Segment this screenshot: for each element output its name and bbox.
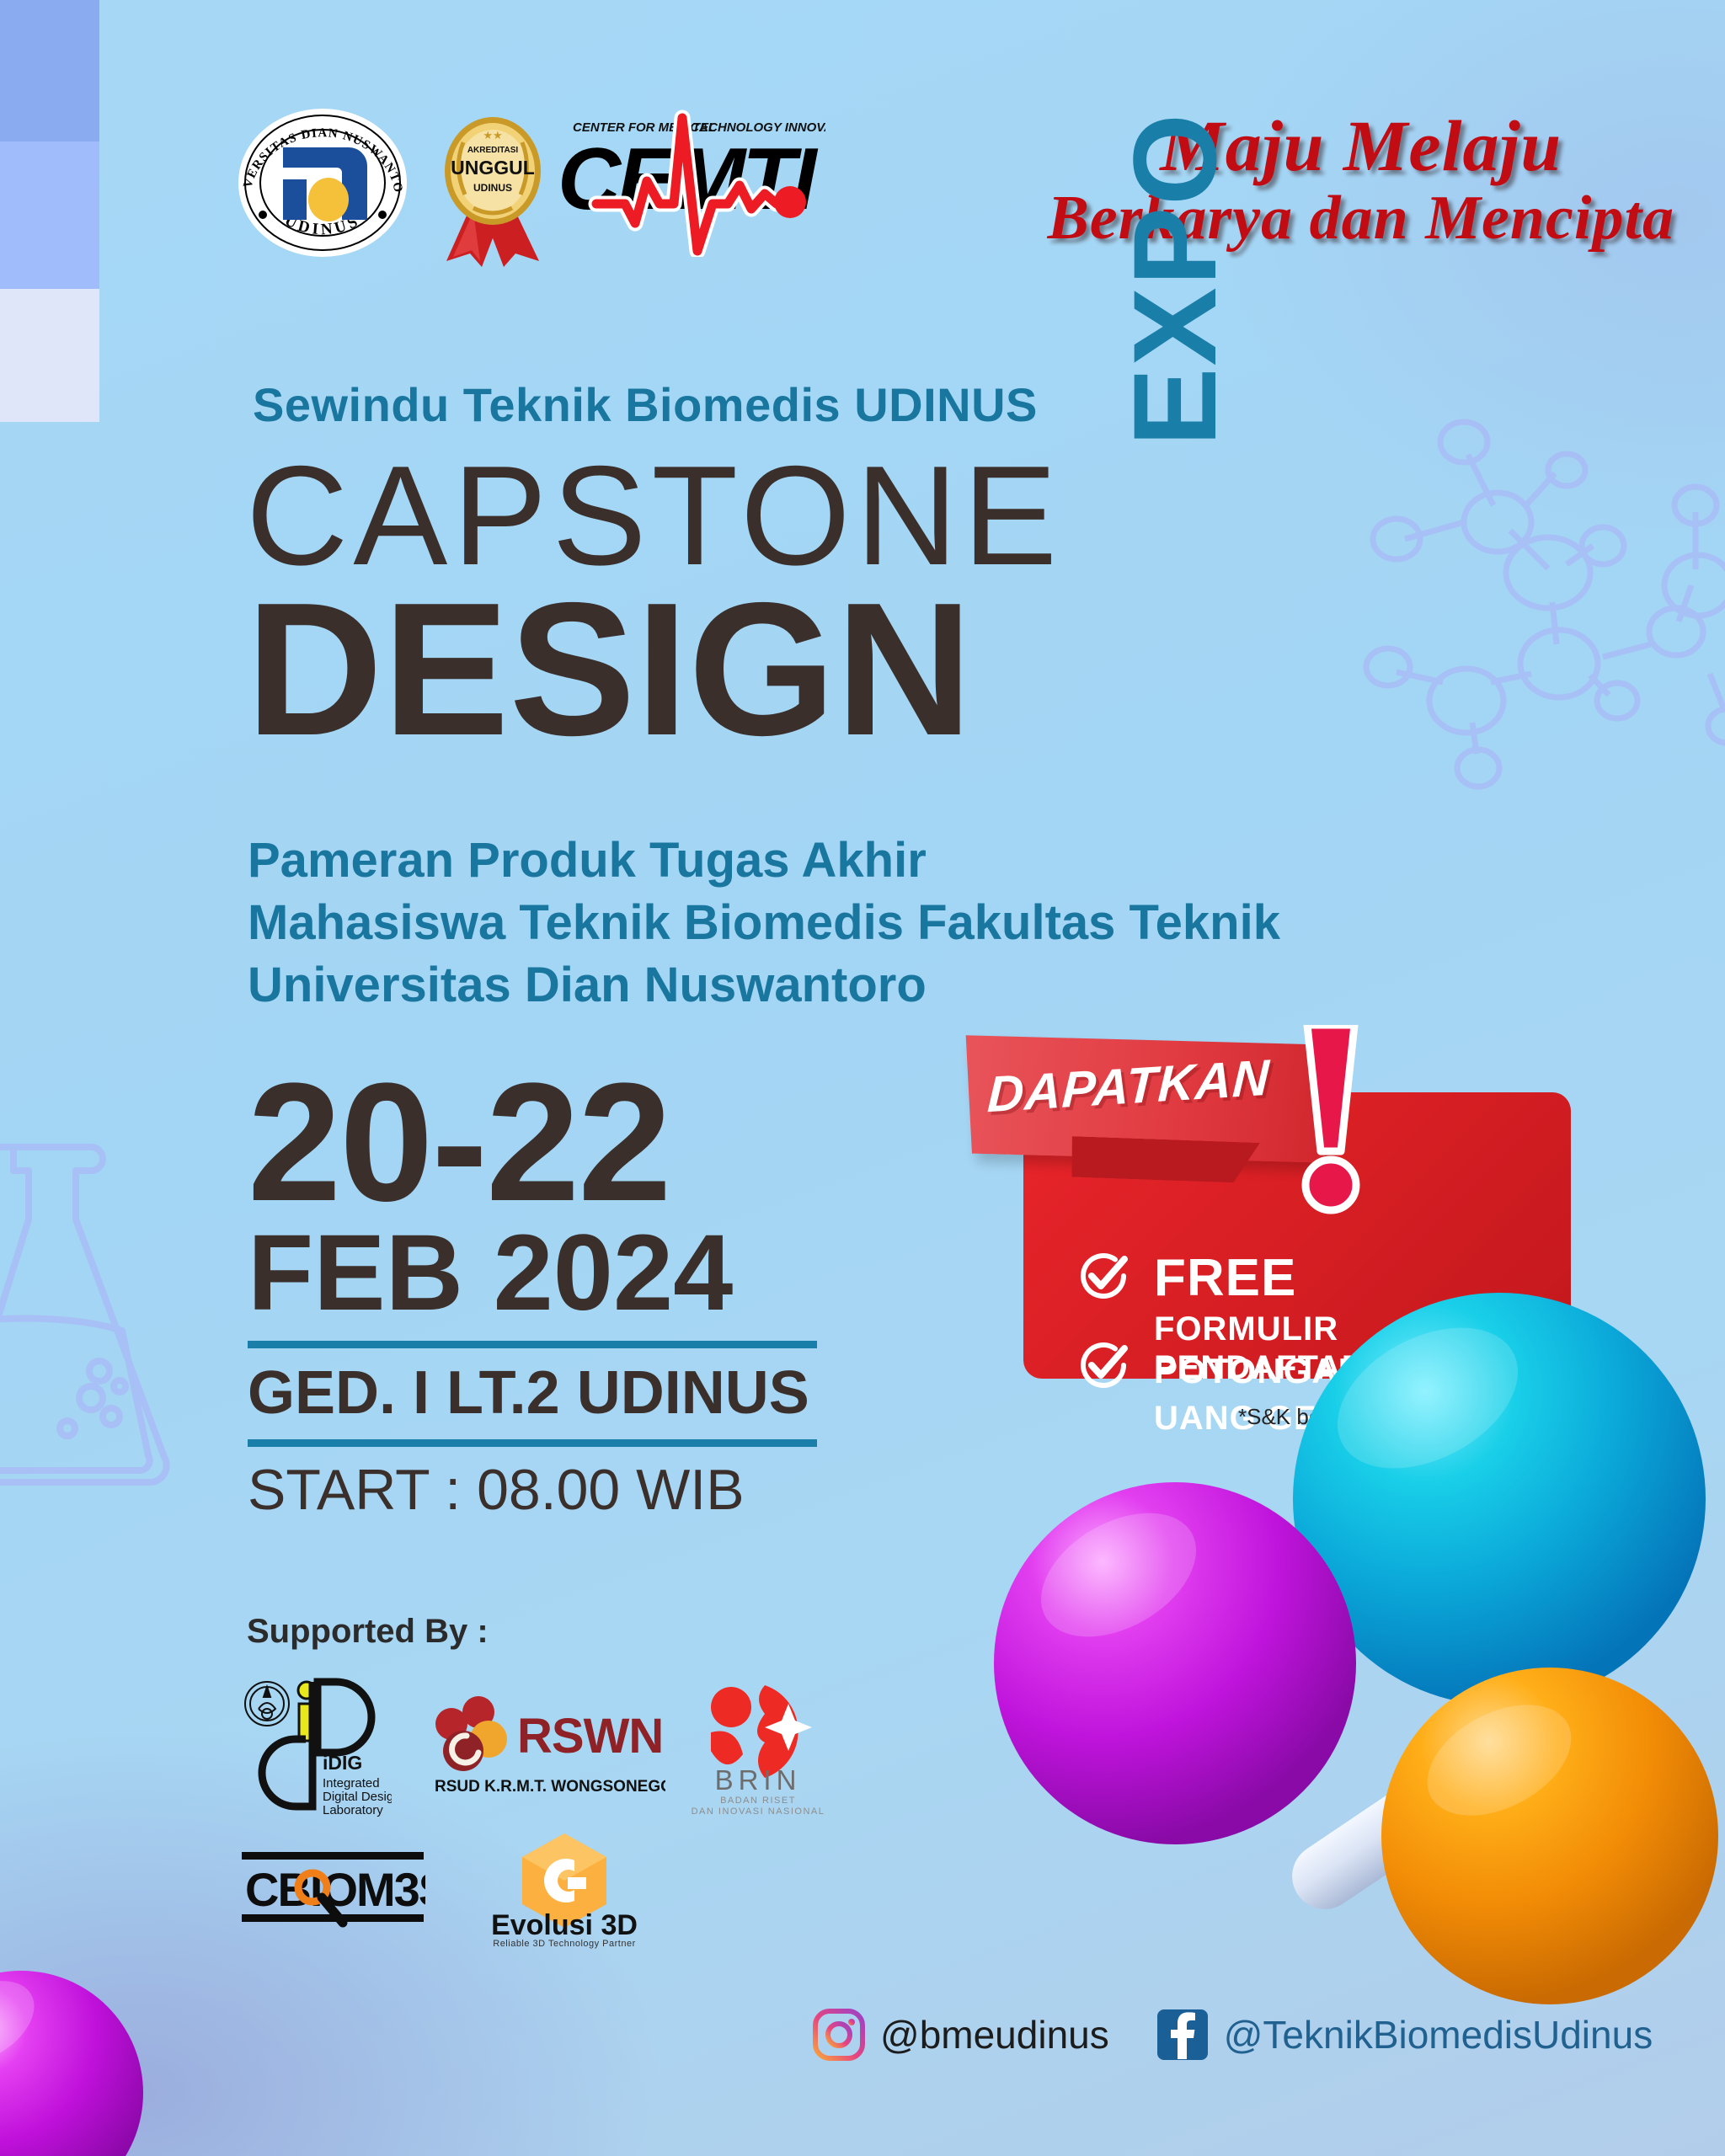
idig-lab-logo-icon: iDIG Integrated Digital Design Laborator… bbox=[240, 1672, 392, 1819]
event-start-time: START : 08.00 WIB bbox=[248, 1457, 837, 1523]
brin-logo-icon: BRIN BADAN RISET DAN INOVASI NASIONAL bbox=[691, 1680, 825, 1815]
divider-rule-1 bbox=[248, 1341, 817, 1348]
evolusi-3d-logo-icon: Evolusi 3D Reliable 3D Technology Partne… bbox=[480, 1832, 649, 1950]
corner-square-3 bbox=[0, 289, 99, 422]
brin-wordmark: BRIN bbox=[715, 1764, 802, 1796]
rswn-wordmark: RSWN bbox=[517, 1709, 663, 1764]
badge-line3: UDINUS bbox=[473, 182, 512, 194]
event-title-block: CAPSTONE DESIGN bbox=[246, 446, 1257, 800]
instagram-handle: @bmeudinus bbox=[880, 2012, 1109, 2057]
idig-line-2: Integrated bbox=[323, 1776, 380, 1790]
divider-rule-2 bbox=[248, 1439, 817, 1447]
subtitle-line-3: Universitas Dian Nuswantoro bbox=[248, 954, 1280, 1017]
supported-by-label: Supported By : bbox=[247, 1613, 489, 1651]
event-month-year: FEB 2024 bbox=[248, 1219, 837, 1329]
social-facebook[interactable]: @TeknikBiomedisUdinus bbox=[1156, 2009, 1653, 2061]
idig-line-4: Laboratory bbox=[323, 1803, 383, 1817]
social-links: @bmeudinus @TeknikBiomedisUdinus bbox=[813, 2009, 1653, 2061]
event-subtitle: Pameran Produk Tugas Akhir Mahasiswa Tek… bbox=[248, 830, 1280, 1017]
poster-canvas: UNIVERSITAS DIAN NUSWANTORO UDINUS AKRED… bbox=[0, 0, 1725, 2156]
badge-line1: AKREDITASI bbox=[467, 146, 519, 155]
cemti-logo-icon: CENTER FOR MEDICAL TECHNOLOGY INNOVATION… bbox=[547, 109, 825, 257]
evolusi-caption: Reliable 3D Technology Partner bbox=[493, 1939, 636, 1949]
event-kicker: Sewindu Teknik Biomedis UDINUS bbox=[253, 377, 1038, 432]
molecule-3d-illustration bbox=[994, 1255, 1725, 2055]
subtitle-line-1: Pameran Produk Tugas Akhir bbox=[248, 830, 1280, 892]
idig-line-3: Digital Design bbox=[323, 1790, 392, 1804]
subtitle-line-2: Mahasiswa Teknik Biomedis Fakultas Tekni… bbox=[248, 892, 1280, 954]
exclamation-mark-icon bbox=[1282, 1025, 1375, 1219]
title-side-expo: EXPO bbox=[1116, 112, 1234, 446]
supporter-logos-row-2: CBIOM3S Evolusi 3D Reliable 3D Technolog… bbox=[240, 1832, 678, 1958]
instagram-icon bbox=[813, 2009, 865, 2061]
facebook-handle: @TeknikBiomedisUdinus bbox=[1224, 2012, 1653, 2057]
rswn-caption: RSUD K.R.M.T. WONGSONEGORO bbox=[435, 1778, 665, 1796]
supporter-logos-row-1: iDIG Integrated Digital Design Laborator… bbox=[240, 1672, 830, 1823]
evolusi-wordmark: Evolusi 3D bbox=[491, 1909, 638, 1941]
erlenmeyer-flask-outline-icon bbox=[0, 1103, 219, 1541]
event-date-range: 20-22 bbox=[248, 1065, 837, 1220]
facebook-icon bbox=[1156, 2009, 1209, 2061]
svg-text:★★: ★★ bbox=[483, 129, 502, 141]
brin-caption-1: BADAN RISET bbox=[720, 1796, 796, 1806]
cbiom3s-logo-icon: CBIOM3S bbox=[240, 1847, 425, 1931]
promo-ribbon-tail bbox=[1060, 1136, 1260, 1183]
social-instagram[interactable]: @bmeudinus bbox=[813, 2009, 1109, 2061]
accreditation-unggul-badge-icon: AKREDITASI UNGGUL UDINUS ★★ bbox=[430, 114, 556, 269]
rswn-hospital-logo-icon: RSWN RSUD K.R.M.T. WONGSONEGORO bbox=[430, 1687, 665, 1813]
brin-caption-2: DAN INOVASI NASIONAL bbox=[692, 1806, 825, 1815]
atom-sphere-magenta-corner bbox=[0, 1945, 168, 2156]
event-venue: GED. I LT.2 UDINUS bbox=[248, 1358, 837, 1428]
event-details-block: 20-22 FEB 2024 GED. I LT.2 UDINUS START … bbox=[248, 1065, 837, 1523]
idig-line-1: iDIG bbox=[323, 1752, 362, 1774]
title-line-design: DESIGN bbox=[246, 582, 1257, 756]
udinus-university-seal-icon: UNIVERSITAS DIAN NUSWANTORO UDINUS bbox=[226, 105, 419, 261]
badge-line2: UNGGUL bbox=[451, 157, 535, 179]
molecule-outline-icon bbox=[1346, 404, 1725, 808]
